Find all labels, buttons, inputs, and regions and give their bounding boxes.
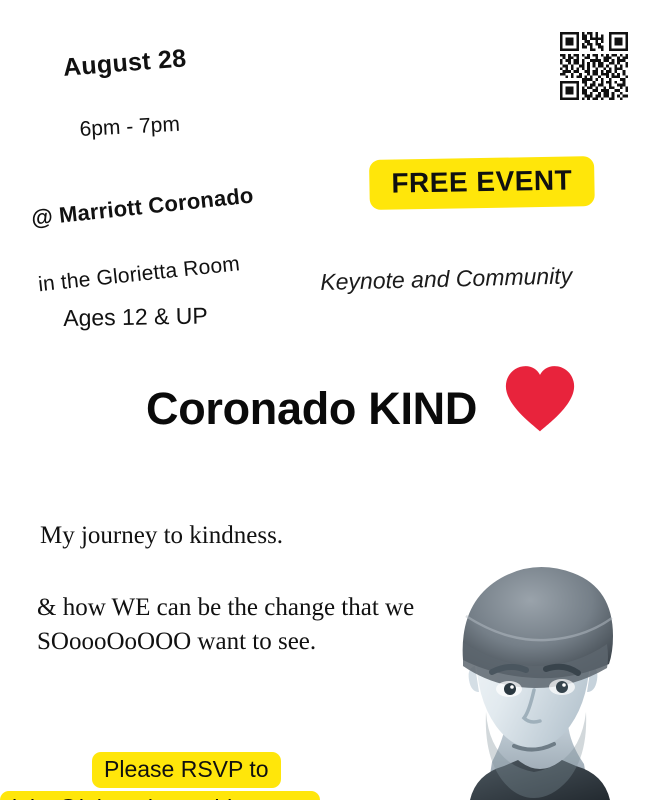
speaker-portrait-photo [430,556,645,800]
rsvp-block: Please RSVP to john@johnpolocoaching.com [92,752,392,800]
body-paragraph: & how WE can be the change that we SOooo… [37,591,427,660]
event-time: 6pm - 7pm [79,113,181,143]
qr-code[interactable] [560,32,628,100]
event-date: August 28 [62,44,187,83]
free-event-badge: FREE EVENT [369,156,595,210]
event-format: Keynote and Community [320,262,572,296]
heart-icon [501,384,579,434]
rsvp-label: Please RSVP to [92,752,281,788]
rsvp-email[interactable]: john@johnpolocoaching.com [0,791,320,800]
free-event-label: FREE EVENT [391,164,572,198]
headline: Coronado KIND [146,383,579,435]
body-line-1: My journey to kindness. [40,521,283,551]
page-title: Coronado KIND [146,383,477,435]
venue-room: in the Glorietta Room [37,251,262,299]
age-requirement: Ages 12 & UP [63,302,208,332]
venue-name: @ Marriott Coronado [30,182,255,231]
event-flyer: August 28 6pm - 7pm @ Marriott Coronado … [0,0,648,800]
